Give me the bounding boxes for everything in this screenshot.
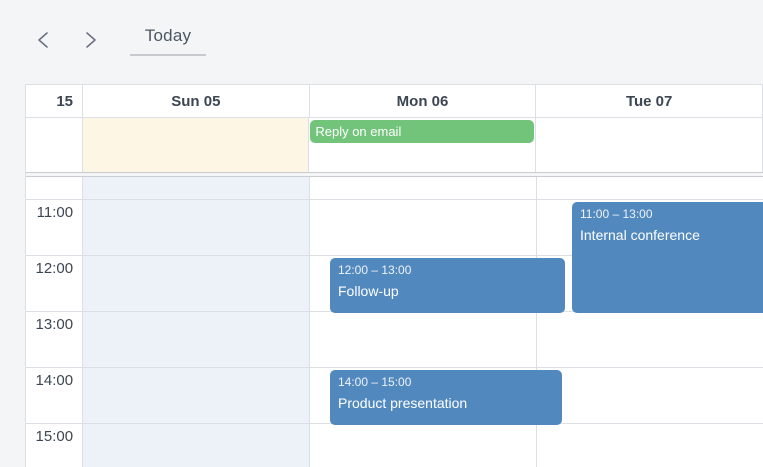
time-label: 15:00 (26, 424, 83, 467)
time-slot-cell-mon[interactable] (310, 177, 537, 199)
all-day-cell-sun[interactable] (83, 118, 310, 172)
time-slot-cell-sun[interactable] (83, 177, 310, 199)
event-time: 12:00 – 13:00 (338, 263, 557, 278)
event-time: 11:00 – 13:00 (580, 207, 759, 222)
time-slot-cell-mon[interactable] (310, 424, 537, 467)
previous-period-button[interactable] (26, 22, 62, 58)
today-button-label: Today (139, 24, 197, 54)
chevron-left-icon (34, 29, 54, 51)
all-day-cell-tue[interactable] (536, 118, 763, 172)
day-header-mon[interactable]: Mon 06 (310, 85, 537, 118)
event-title: Internal conference (580, 225, 759, 245)
event-internal-conference[interactable]: 11:00 – 13:00 Internal conference (572, 202, 763, 313)
today-active-underline (130, 54, 206, 56)
time-slot-cell-sun[interactable] (83, 312, 310, 367)
time-label: 13:00 (26, 312, 83, 367)
all-day-row: Reply on email (26, 118, 763, 173)
time-label (26, 177, 83, 199)
time-label: 11:00 (26, 200, 83, 255)
time-grid: 11:00 12:00 13:00 (26, 177, 763, 467)
time-label: 12:00 (26, 256, 83, 311)
event-title: Follow-up (338, 281, 557, 301)
time-slot-row: 15:00 (26, 424, 763, 467)
calendar-header-row: 15 Sun 05 Mon 06 Tue 07 (26, 85, 763, 118)
time-slot-cell-tue[interactable] (537, 368, 763, 423)
event-follow-up[interactable]: 12:00 – 13:00 Follow-up (330, 258, 565, 313)
event-time: 14:00 – 15:00 (338, 375, 554, 390)
chevron-right-icon (80, 29, 100, 51)
time-slot-row (26, 177, 763, 200)
calendar-app: Today 15 Sun 05 Mon 06 Tue 07 Reply on e… (0, 0, 763, 467)
time-slot-cell-tue[interactable] (537, 177, 763, 199)
time-slot-cell-tue[interactable] (537, 312, 763, 367)
all-day-cell-mon[interactable]: Reply on email (309, 118, 536, 172)
time-slot-cell-mon[interactable] (310, 200, 537, 255)
event-title: Product presentation (338, 393, 554, 413)
time-slot-row: 13:00 (26, 312, 763, 368)
time-slot-cell-tue[interactable] (537, 424, 763, 467)
calendar-grid: 15 Sun 05 Mon 06 Tue 07 Reply on email (25, 84, 763, 467)
time-slot-cell-sun[interactable] (83, 256, 310, 311)
time-slot-cell-sun[interactable] (83, 368, 310, 423)
time-label: 14:00 (26, 368, 83, 423)
time-slot-cell-sun[interactable] (83, 424, 310, 467)
week-number-cell: 15 (26, 85, 83, 118)
all-day-gutter (26, 118, 83, 172)
day-header-sun[interactable]: Sun 05 (83, 85, 310, 118)
all-day-event-reply-on-email[interactable]: Reply on email (310, 120, 534, 143)
time-slot-cell-sun[interactable] (83, 200, 310, 255)
today-button[interactable]: Today (130, 24, 206, 56)
event-product-presentation[interactable]: 14:00 – 15:00 Product presentation (330, 370, 562, 425)
next-period-button[interactable] (72, 22, 108, 58)
time-slot-cell-mon[interactable] (310, 312, 537, 367)
day-header-tue[interactable]: Tue 07 (536, 85, 763, 118)
calendar-toolbar: Today (0, 0, 763, 80)
